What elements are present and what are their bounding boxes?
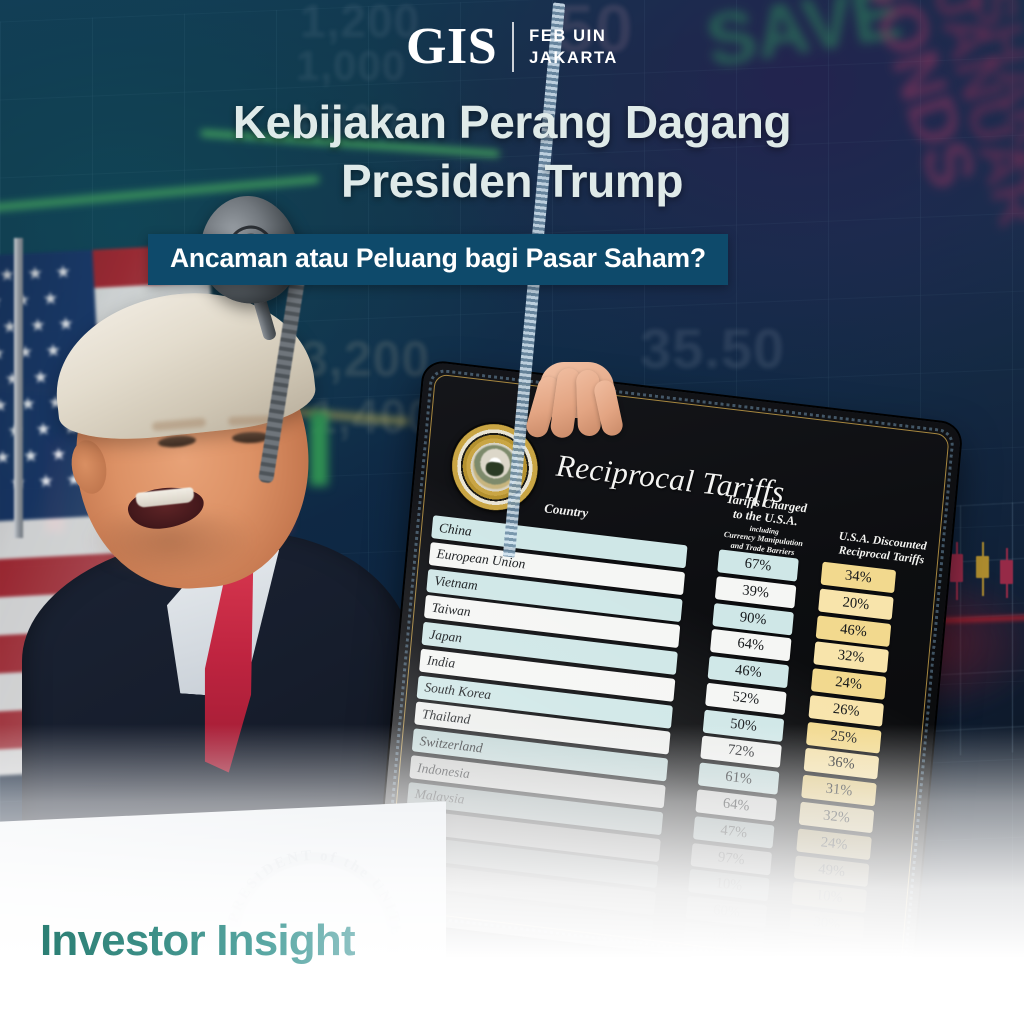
subtitle-text: Ancaman atau Peluang bagi Pasar Saham? <box>170 243 706 273</box>
footer-brand: Investor Insight <box>40 916 355 966</box>
logo-subtext: FEB UIN JAKARTA <box>529 25 618 70</box>
logo-sub-line2: JAKARTA <box>529 47 618 69</box>
logo-sub-line1: FEB UIN <box>529 25 618 47</box>
background-number: 35.50 <box>640 316 785 381</box>
brand-logo: GIS FEB UIN JAKARTA <box>0 22 1024 72</box>
hand-holding-board <box>514 366 624 458</box>
logo-divider <box>512 22 514 72</box>
headline-line-2: Presiden Trump <box>0 152 1024 211</box>
logo-text-gis: GIS <box>406 22 497 72</box>
tariff-table: China67%34%European Union39%20%Vietnam90… <box>397 515 930 974</box>
page-title: Kebijakan Perang Dagang Presiden Trump <box>0 93 1024 211</box>
tariff-board: Reciprocal Tariffs Country Tariffs Charg… <box>374 361 961 983</box>
poster-canvas: 1,200 1,000 4,500 3,200 1,400 50 35.50 S… <box>0 0 1024 1024</box>
subtitle-banner: Ancaman atau Peluang bagi Pasar Saham? <box>148 234 728 285</box>
headline-line-1: Kebijakan Perang Dagang <box>0 93 1024 152</box>
